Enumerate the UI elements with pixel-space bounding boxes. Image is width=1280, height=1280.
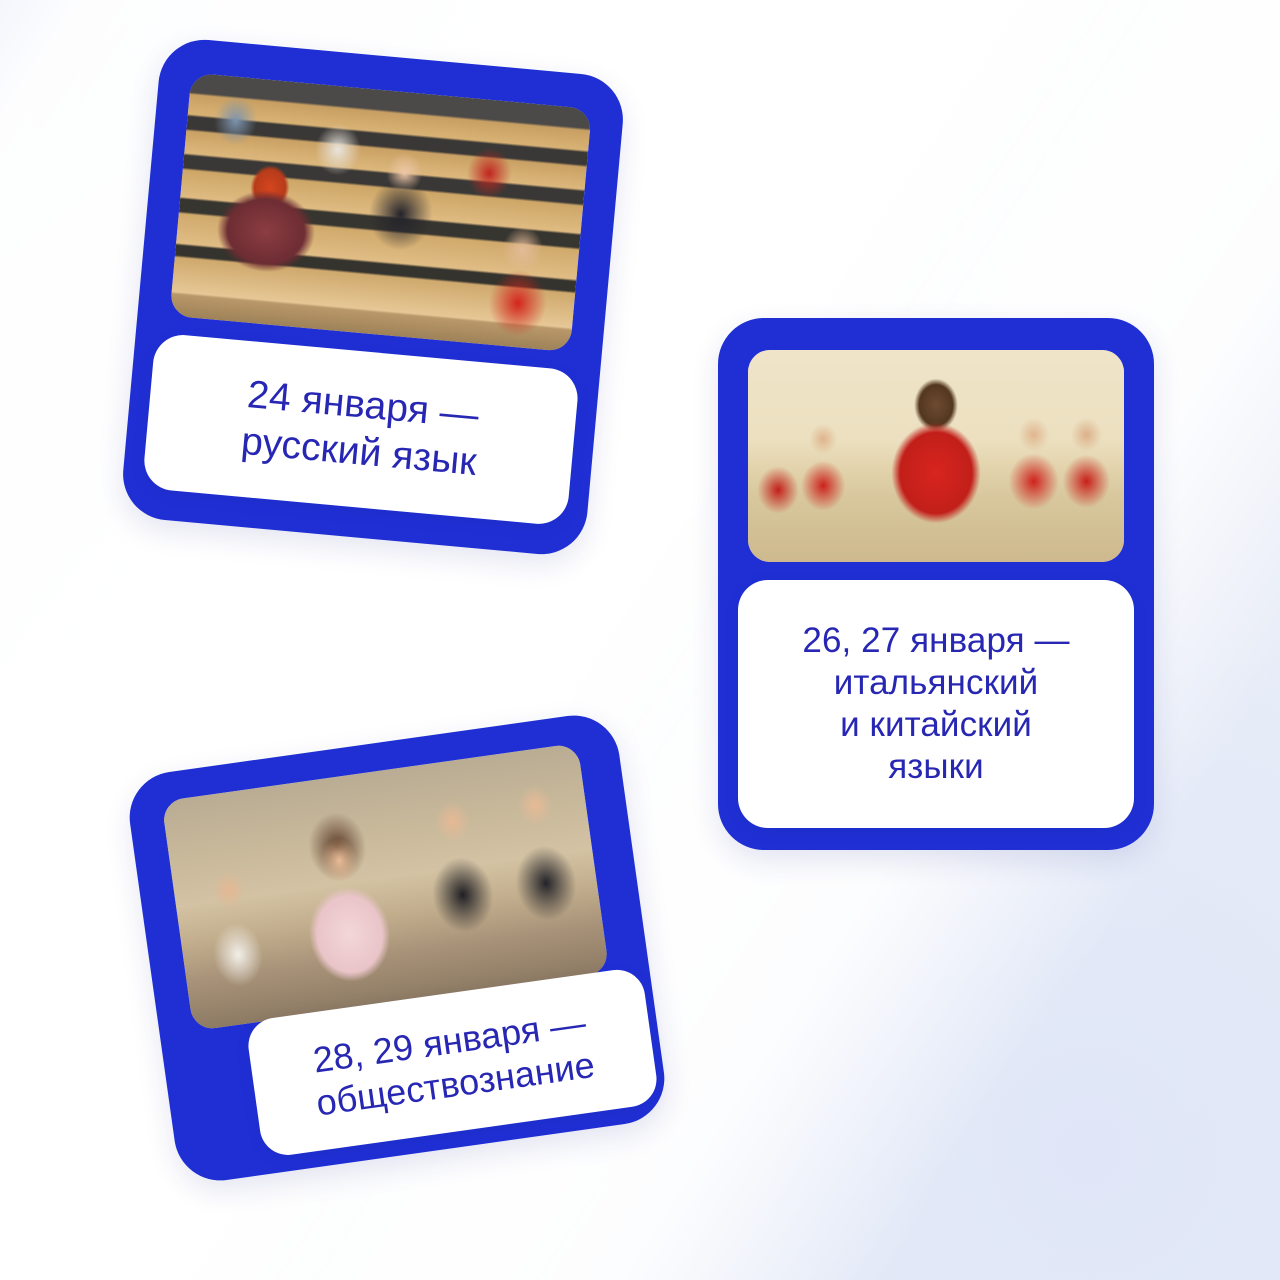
poster-canvas: 24 января — русский язык 26, 27 января —… — [0, 0, 1280, 1280]
card-photo-italian-chinese-languages — [748, 350, 1124, 562]
card-label-italian-chinese-languages: 26, 27 января — итальянский и китайский … — [738, 580, 1134, 828]
card-label-russian-language: 24 января — русский язык — [142, 332, 580, 526]
schedule-card-social-studies[interactable]: 28, 29 января — обществознание — [124, 710, 671, 1187]
photo-lecture-hall-image — [169, 73, 591, 352]
schedule-card-italian-chinese-languages[interactable]: 26, 27 января — итальянский и китайский … — [718, 318, 1154, 850]
photo-exam-room-image — [748, 350, 1124, 562]
card-photo-russian-language — [169, 73, 591, 352]
schedule-card-russian-language[interactable]: 24 января — русский язык — [119, 36, 627, 558]
